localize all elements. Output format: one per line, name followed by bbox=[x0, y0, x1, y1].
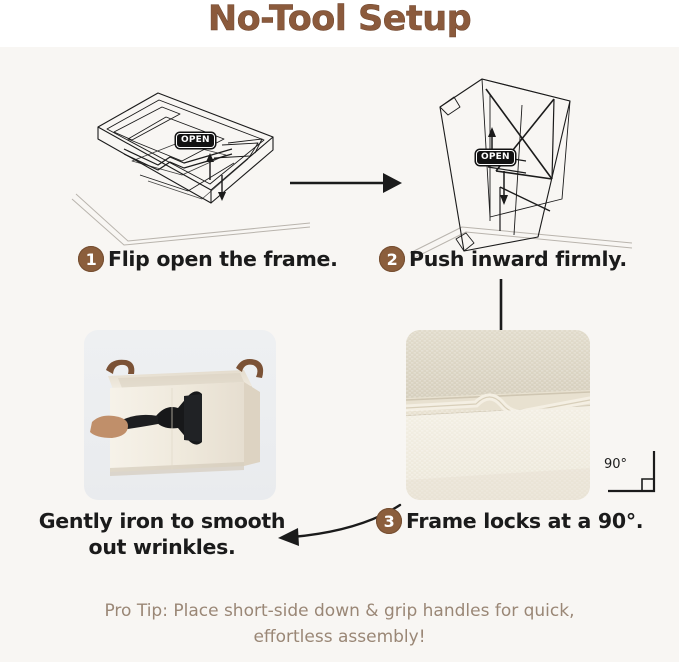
caption-step-1: 1 Flip open the frame. bbox=[78, 246, 338, 272]
page-title: No-Tool Setup bbox=[0, 0, 679, 39]
caption-text-step-2: Push inward firmly. bbox=[409, 247, 627, 271]
angle-indicator: 90° bbox=[604, 447, 660, 504]
arrow-step1-to-step2 bbox=[288, 170, 404, 196]
caption-text-step-3: Frame locks at a 90°. bbox=[406, 509, 643, 533]
step-number-badge-3: 3 bbox=[376, 508, 402, 534]
caption-step-3: 3 Frame locks at a 90°. bbox=[376, 508, 643, 534]
caption-text-step-1: Flip open the frame. bbox=[108, 247, 338, 271]
open-badge-step-2: OPEN bbox=[476, 150, 515, 165]
caption-iron-line-2: out wrinkles. bbox=[38, 534, 286, 560]
open-badge-step-1: OPEN bbox=[176, 133, 215, 148]
caption-iron-line-1: Gently iron to smooth bbox=[38, 508, 286, 534]
step-1-illustration: OPEN bbox=[62, 77, 312, 257]
photo-frame-corner-closeup bbox=[406, 330, 590, 500]
step-number-badge-2: 2 bbox=[379, 246, 405, 272]
pro-tip: Pro Tip: Place short-side down & grip ha… bbox=[0, 598, 679, 650]
infographic-root: No-Tool Setup bbox=[0, 0, 679, 662]
angle-label: 90° bbox=[604, 457, 627, 472]
step-2-illustration: OPEN bbox=[404, 71, 634, 261]
photo-iron-basket bbox=[84, 330, 276, 500]
instruction-canvas: OPEN bbox=[0, 47, 679, 662]
connector-step2-to-step3 bbox=[495, 279, 507, 331]
pro-tip-line-2: effortless assembly! bbox=[0, 624, 679, 650]
pro-tip-line-1: Pro Tip: Place short-side down & grip ha… bbox=[0, 598, 679, 624]
caption-iron-step: Gently iron to smooth out wrinkles. bbox=[38, 508, 286, 560]
step-number-badge-1: 1 bbox=[78, 246, 104, 272]
caption-step-2: 2 Push inward firmly. bbox=[379, 246, 627, 272]
